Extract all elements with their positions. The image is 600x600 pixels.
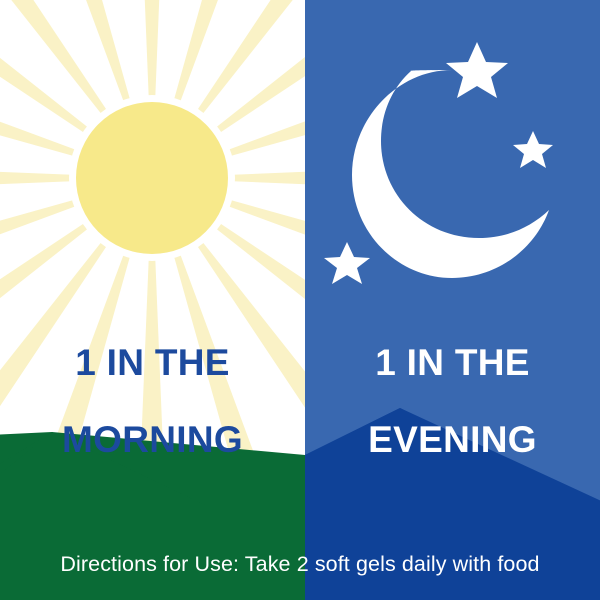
evening-caption-line-1: 1 IN THE [305, 344, 600, 382]
evening-caption: 1 IN THE EVENING [305, 306, 600, 498]
directions-for-use-text: Directions for Use: Take 2 soft gels dai… [0, 552, 600, 577]
morning-caption-line-2: MORNING [0, 421, 305, 459]
sun-icon [76, 102, 228, 254]
evening-caption-line-2: EVENING [305, 421, 600, 459]
poster-artwork [0, 0, 600, 600]
evening-panel-group [305, 0, 600, 600]
directions-poster: 1 IN THE MORNING 1 IN THE EVENING Direct… [0, 0, 600, 600]
morning-caption-line-1: 1 IN THE [0, 344, 305, 382]
morning-caption: 1 IN THE MORNING [0, 306, 305, 498]
